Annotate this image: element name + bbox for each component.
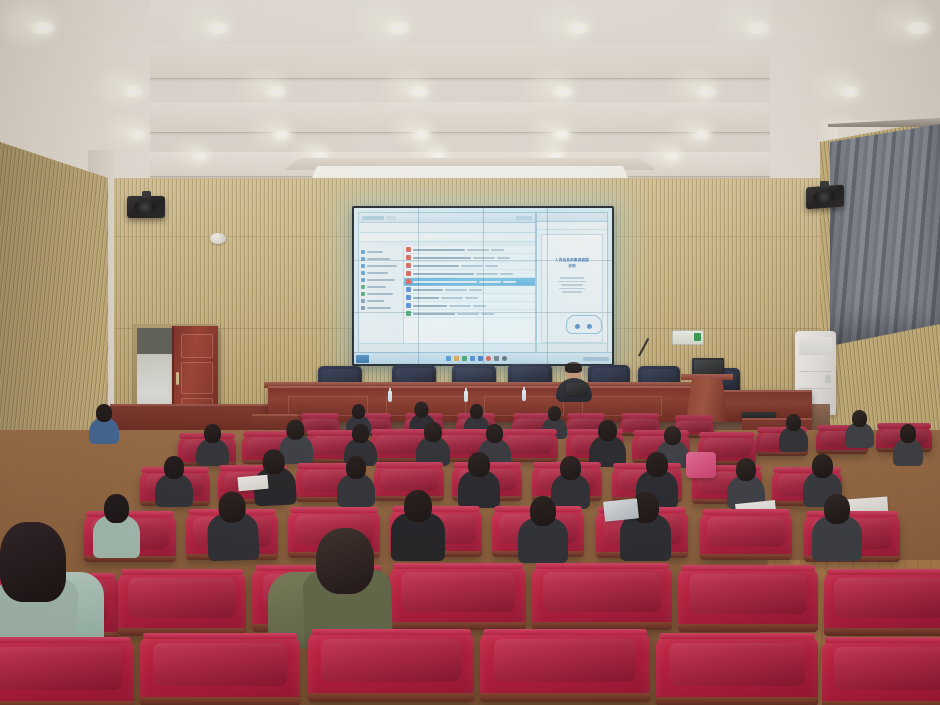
- audience-head: [900, 424, 916, 443]
- file-type-pdf-icon: [406, 279, 411, 284]
- seat-top-edge: [501, 429, 557, 435]
- audience-head: [96, 404, 112, 422]
- seat-wood-trim: [700, 554, 792, 560]
- ceiling-downlight: [665, 152, 681, 160]
- audience-head: [104, 494, 129, 523]
- wall-speaker-left-icon: [127, 196, 165, 218]
- ceiling-downlight: [695, 86, 717, 97]
- document-page[interactable]: 人员信息采集流程图 说明: [541, 234, 603, 343]
- sidebar-folder-icon: [361, 292, 365, 296]
- explorer-sidebar-item-local-disk-c[interactable]: [361, 298, 401, 304]
- auditorium-seat[interactable]: [118, 572, 246, 636]
- downlight-glow: [643, 136, 688, 170]
- sidebar-item-label: [367, 279, 395, 281]
- auditorium-seat[interactable]: [678, 568, 818, 632]
- seat-top-edge: [513, 413, 551, 419]
- seat-top-edge: [375, 462, 442, 468]
- sidebar-folder-icon: [361, 271, 365, 275]
- file-date: [476, 273, 498, 275]
- start-button-icon[interactable]: [356, 355, 369, 363]
- sidebar-folder-icon: [361, 278, 365, 282]
- sidebar-item-label: [367, 251, 383, 253]
- file-date: [449, 305, 471, 307]
- audience-head: [824, 494, 850, 524]
- auditorium-seat[interactable]: [308, 632, 474, 702]
- cloud-shape-icon: [566, 315, 602, 334]
- explorer-toolbar[interactable]: [359, 223, 535, 233]
- system-tray[interactable]: [583, 357, 609, 361]
- audience-head: [470, 404, 483, 419]
- file-type-doc-icon: [406, 287, 411, 292]
- file-date: [461, 265, 483, 267]
- taskbar-app-icon[interactable]: [486, 356, 491, 361]
- file-list-row[interactable]: [404, 286, 535, 294]
- speaker-bracket: [820, 181, 829, 188]
- file-size: [469, 289, 482, 291]
- taskbar-app-icon[interactable]: [478, 356, 483, 361]
- document-text-line: [559, 288, 585, 290]
- seat-wood-trim: [140, 697, 300, 705]
- ceiling-downlight: [692, 130, 711, 139]
- audience-head: [736, 458, 756, 481]
- file-list-row[interactable]: [404, 294, 535, 302]
- audience-head: [218, 491, 246, 523]
- seat-top-edge: [0, 637, 131, 643]
- taskbar-app-icon[interactable]: [470, 356, 475, 361]
- downlight-glow: [101, 111, 154, 151]
- seat-top-edge: [301, 413, 339, 419]
- video-wall-display[interactable]: 人员信息采集流程图 说明: [354, 208, 612, 364]
- ceiling-downlight: [30, 22, 56, 34]
- seat-wood-trim: [480, 693, 650, 702]
- document-text-line: [561, 284, 583, 286]
- explorer-sidebar-item-cloud-drive[interactable]: [361, 291, 401, 297]
- audience-head: [852, 410, 867, 427]
- audience-head: [424, 422, 442, 442]
- window-controls[interactable]: [516, 216, 532, 220]
- auditorium-seat[interactable]: [822, 640, 940, 705]
- seat-top-edge: [143, 633, 297, 639]
- seat-top-edge: [699, 432, 755, 438]
- audience-head: [404, 490, 432, 522]
- document-title: 人员信息采集流程图 说明: [542, 257, 602, 269]
- sidebar-item-label: [367, 286, 386, 288]
- seat-wood-trim: [308, 693, 474, 702]
- file-date: [441, 297, 463, 299]
- downlight-glow: [664, 64, 726, 110]
- file-type-doc-icon: [406, 303, 411, 308]
- sidebar-item-label: [367, 265, 397, 267]
- file-name: [413, 281, 477, 283]
- audience-head: [530, 496, 556, 526]
- downlight-glow: [170, 136, 215, 170]
- explorer-sidebar-item-downloads[interactable]: [361, 256, 401, 262]
- auditorium-seat[interactable]: [480, 632, 650, 702]
- audience-head-foreground: [316, 528, 374, 594]
- taskbar-app-icon[interactable]: [502, 356, 507, 361]
- auditorium-seat[interactable]: [0, 640, 134, 705]
- ceiling-downlight: [408, 86, 430, 97]
- audience-head: [468, 452, 490, 477]
- wall-control-panel-icon[interactable]: [672, 330, 704, 345]
- explorer-sidebar-item-documents[interactable]: [361, 263, 401, 269]
- ceiling-downlight: [122, 86, 144, 97]
- file-type-pdf-icon: [406, 263, 411, 268]
- audience-head-foreground: [0, 522, 66, 602]
- audience-head: [812, 454, 833, 478]
- file-date: [467, 249, 489, 251]
- audience-head: [262, 449, 285, 475]
- seat-top-edge: [825, 637, 940, 643]
- seat-top-edge: [681, 565, 815, 571]
- seat-top-edge: [567, 413, 605, 419]
- document-text-line: [560, 277, 584, 279]
- seat-top-edge: [827, 569, 940, 575]
- explorer-tab[interactable]: [362, 216, 384, 220]
- file-name: [413, 257, 471, 259]
- attendee-laptop: [603, 498, 639, 521]
- speaker-bracket: [142, 191, 151, 198]
- taskbar-app-icon[interactable]: [462, 356, 467, 361]
- document-text-line: [558, 281, 586, 283]
- seat-top-edge: [702, 509, 790, 515]
- file-explorer-window[interactable]: [358, 212, 536, 354]
- conference-hall-photo: 人员信息采集流程图 说明: [0, 0, 940, 705]
- explorer-address-bar[interactable]: [359, 233, 535, 242]
- auditorium-seat[interactable]: [656, 636, 818, 705]
- seat-top-edge: [290, 507, 378, 513]
- seat-wood-trim: [822, 701, 940, 705]
- seat-wood-trim: [678, 624, 818, 632]
- audience-head: [414, 401, 429, 418]
- ceiling-downlight: [265, 86, 287, 97]
- seat-wood-trim: [0, 701, 134, 705]
- file-size: [465, 297, 478, 299]
- ceiling-downlight: [565, 22, 591, 34]
- file-size: [497, 257, 510, 259]
- sidebar-item-label: [367, 307, 391, 309]
- seat-top-edge: [675, 415, 713, 421]
- ceiling-downlight: [205, 22, 231, 34]
- audience-head: [548, 406, 561, 421]
- auditorium-seat[interactable]: [390, 566, 526, 630]
- water-bottle: [522, 390, 526, 401]
- taskbar-app-icon[interactable]: [446, 356, 451, 361]
- seat-top-edge: [371, 429, 427, 435]
- audience-head: [646, 452, 668, 477]
- audience-head: [352, 404, 365, 419]
- seat-wood-trim: [656, 697, 818, 705]
- auditorium-seat[interactable]: [532, 566, 672, 630]
- auditorium-seat[interactable]: [824, 572, 940, 636]
- ceiling-downlight: [192, 152, 208, 160]
- water-bottle: [464, 391, 468, 402]
- explorer-titlebar[interactable]: [359, 213, 535, 223]
- file-date: [473, 257, 495, 259]
- seat-wood-trim: [756, 452, 808, 456]
- explorer-sidebar-item-this-pc[interactable]: [361, 277, 401, 283]
- audience-head: [664, 426, 681, 445]
- wall-sensor-icon: [210, 233, 226, 244]
- audience-head: [598, 420, 617, 441]
- downlight-glow: [521, 64, 583, 110]
- audience-head: [486, 424, 503, 443]
- audience-head: [286, 419, 305, 440]
- window-curtain[interactable]: [830, 124, 940, 346]
- ceiling-downlight: [745, 22, 771, 34]
- file-size: [485, 265, 498, 267]
- seat-top-edge: [121, 569, 244, 575]
- auditorium-seat[interactable]: [140, 636, 300, 705]
- seat-top-edge: [535, 563, 669, 569]
- audience-head: [346, 456, 366, 479]
- sidebar-folder-icon: [361, 306, 365, 310]
- file-name: [413, 249, 465, 251]
- seat-top-edge: [659, 633, 815, 639]
- seat-top-edge: [435, 429, 491, 435]
- door-handle[interactable]: [176, 372, 179, 385]
- seat-top-edge: [393, 563, 524, 569]
- downlight-glow: [234, 64, 296, 110]
- wall-speaker-right-icon: [806, 185, 844, 210]
- sidebar-item-label: [367, 293, 393, 295]
- file-name: [413, 297, 439, 299]
- presenter-laptop: [566, 383, 588, 395]
- ceiling-downlight: [552, 86, 574, 97]
- file-list-row[interactable]: [404, 246, 535, 254]
- seat-top-edge: [483, 629, 646, 635]
- ceiling-downlight: [385, 22, 411, 34]
- sidebar-folder-icon: [361, 285, 365, 289]
- file-size: [500, 273, 513, 275]
- sidebar-item-label: [367, 272, 388, 274]
- file-type-pdf-icon: [406, 271, 411, 276]
- document-body-lines: [542, 277, 602, 293]
- explorer-new-tab-icon[interactable]: [386, 216, 396, 220]
- water-bottle: [388, 391, 392, 402]
- file-size: [491, 249, 504, 251]
- handout-paper: [237, 475, 268, 492]
- file-list-row[interactable]: [404, 262, 535, 270]
- file-type-pdf-icon: [406, 247, 411, 252]
- file-list-row[interactable]: [404, 278, 535, 286]
- corridor-shadow: [137, 328, 175, 354]
- ceiling-downlight: [128, 130, 147, 139]
- downlight-glow: [807, 64, 869, 110]
- taskbar-app-icon[interactable]: [454, 356, 459, 361]
- seat-top-edge: [806, 511, 898, 517]
- downlight-glow: [245, 111, 298, 151]
- document-figure: [552, 300, 594, 334]
- sidebar-item-label: [367, 300, 384, 302]
- seat-wood-trim: [824, 628, 940, 636]
- ceiling-downlight: [272, 130, 291, 139]
- seat-top-edge: [311, 629, 470, 635]
- file-name: [413, 265, 459, 267]
- taskbar-app-icon[interactable]: [494, 356, 499, 361]
- explorer-sidebar-item-local-disk-d[interactable]: [361, 305, 401, 311]
- sidebar-folder-icon: [361, 250, 365, 254]
- file-list-row[interactable]: [404, 270, 535, 278]
- file-size: [473, 305, 486, 307]
- downlight-glow: [91, 64, 153, 110]
- ceiling-downlight: [838, 86, 860, 97]
- document-text-line: [562, 291, 582, 293]
- file-type-doc-icon: [406, 295, 411, 300]
- sidebar-folder-icon: [361, 299, 365, 303]
- explorer-sidebar-item-pictures[interactable]: [361, 270, 401, 276]
- file-list-row[interactable]: [404, 302, 535, 310]
- file-date: [445, 289, 467, 291]
- downlight-glow: [377, 64, 439, 110]
- presidium-desk-left: [110, 404, 270, 432]
- file-name: [413, 273, 474, 275]
- explorer-sidebar-item-network[interactable]: [361, 284, 401, 290]
- seat-top-edge: [621, 413, 659, 419]
- pink-bag: [686, 452, 716, 478]
- audience-head: [352, 424, 369, 443]
- audience-head: [560, 456, 581, 480]
- left-wall-shading: [0, 142, 108, 442]
- file-size: [503, 281, 516, 283]
- audience-head: [164, 456, 184, 479]
- sidebar-folder-icon: [361, 264, 365, 268]
- audience-head: [786, 414, 801, 431]
- audience-head: [204, 424, 221, 443]
- auditorium-seat[interactable]: [700, 512, 792, 560]
- explorer-sidebar-item-quick-access[interactable]: [361, 249, 401, 255]
- ceiling-downlight: [905, 22, 931, 34]
